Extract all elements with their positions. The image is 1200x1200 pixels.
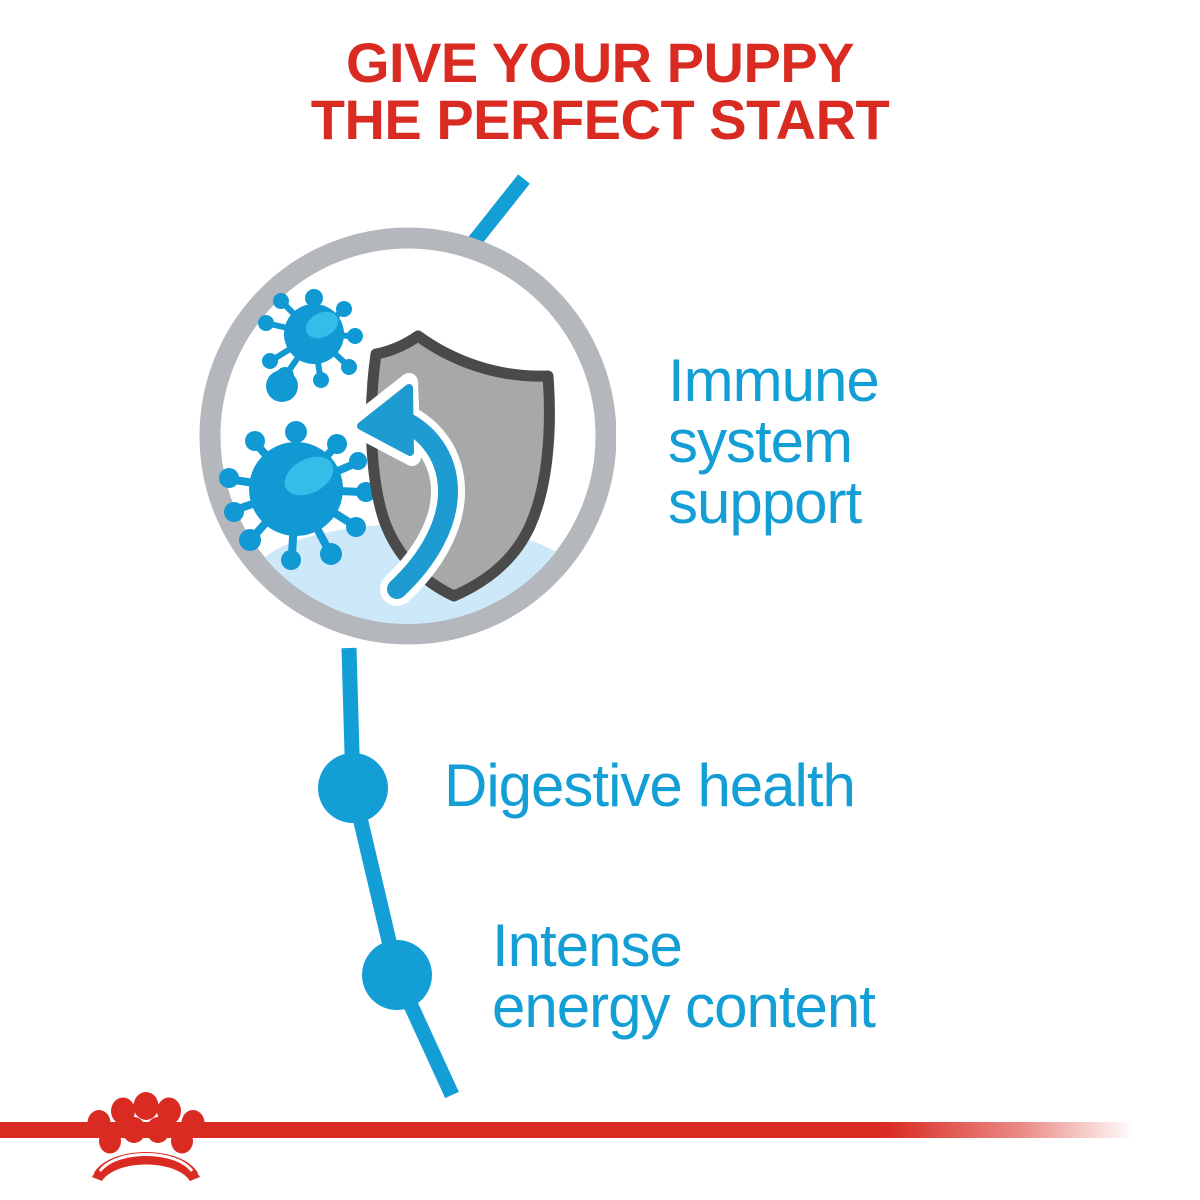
headline-line-1: GIVE YOUR PUPPY [0, 34, 1200, 91]
crown-base-arc [94, 1152, 198, 1179]
benefit-line: energy content [492, 976, 875, 1037]
benefit-label-intense-energy-content: Intense energy content [492, 915, 875, 1037]
benefit-line: Intense [492, 915, 875, 976]
benefit-label-digestive-health: Digestive health [444, 755, 855, 816]
headline-line-2: THE PERFECT START [0, 91, 1200, 148]
royal-canin-crown-logo [78, 1085, 214, 1181]
connector-node-digestive [318, 753, 388, 823]
benefit-line: Digestive health [444, 755, 855, 816]
page-title: GIVE YOUR PUPPY THE PERFECT START [0, 34, 1200, 148]
connector-segment-two [353, 788, 397, 975]
benefit-line: system [668, 411, 879, 472]
germ-icon-dot [266, 370, 298, 402]
footer [0, 1085, 1200, 1200]
benefit-line: support [668, 472, 879, 533]
connector-node-energy [362, 940, 432, 1010]
poster-canvas: GIVE YOUR PUPPY THE PERFECT START [0, 0, 1200, 1200]
connector-segment-one [349, 648, 353, 788]
immune-shield-icon [196, 224, 616, 664]
connector-segment-three [397, 975, 452, 1095]
benefit-label-immune-system-support: Immune system support [668, 350, 879, 534]
benefit-line: Immune [668, 350, 879, 411]
